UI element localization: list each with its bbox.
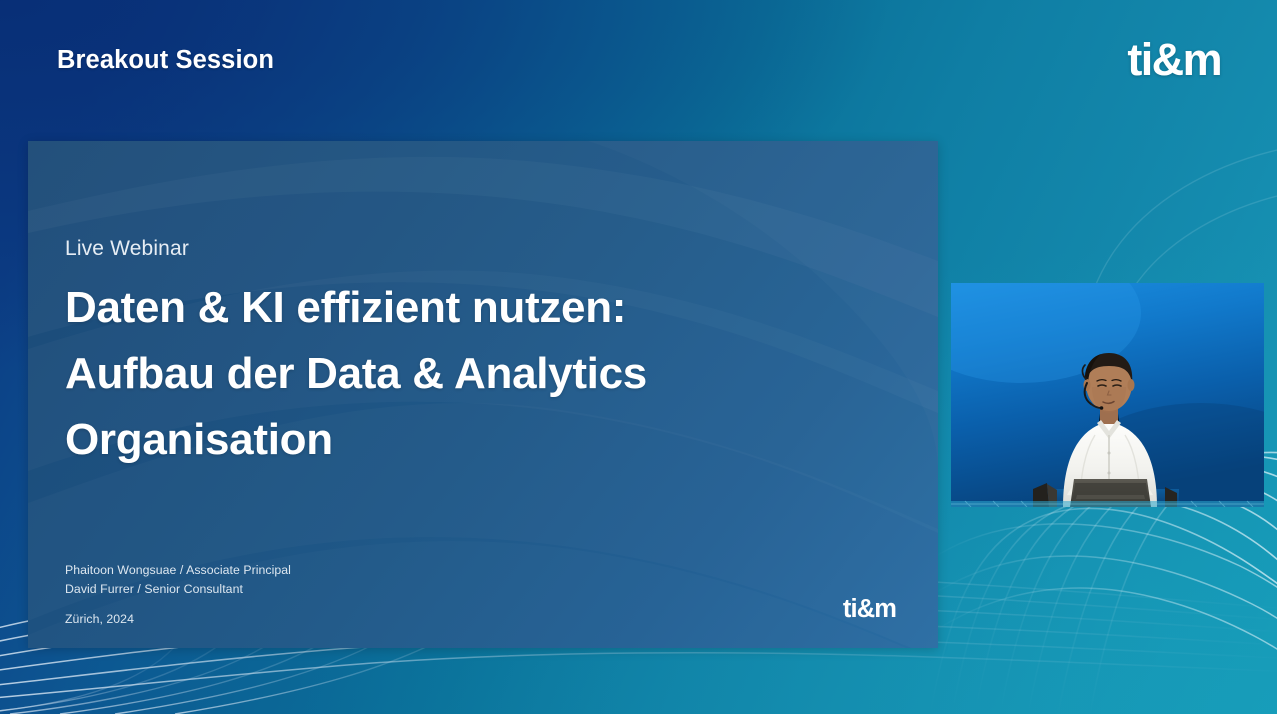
slide-title-line-1: Daten & KI effizient nutzen: — [65, 275, 825, 341]
slide-title: Daten & KI effizient nutzen: Aufbau der … — [65, 275, 825, 473]
presenter-name-2: David Furrer / Senior Consultant — [65, 580, 291, 599]
presenter-name-1: Phaitoon Wongsuae / Associate Principal — [65, 561, 291, 580]
tim-brand-logo: ti&m — [1127, 37, 1221, 82]
session-title: Breakout Session — [57, 46, 274, 75]
slide-tim-logo: ti&m — [843, 597, 896, 623]
slide-eyebrow: Live Webinar — [65, 237, 938, 261]
webinar-stage: Breakout Session ti&m Live Webinar Daten… — [0, 0, 1277, 714]
page-header: Breakout Session ti&m — [0, 0, 1277, 141]
speaker-video-feed[interactable] — [951, 283, 1264, 507]
slide-footer: Phaitoon Wongsuae / Associate Principal … — [65, 561, 291, 626]
slide-location-year: Zürich, 2024 — [65, 612, 291, 626]
slide-title-line-2: Aufbau der Data & Analytics — [65, 341, 825, 407]
presentation-slide[interactable]: Live Webinar Daten & KI effizient nutzen… — [28, 141, 938, 648]
slide-title-line-3: Organisation — [65, 407, 825, 473]
speaker-video-image — [951, 283, 1264, 507]
